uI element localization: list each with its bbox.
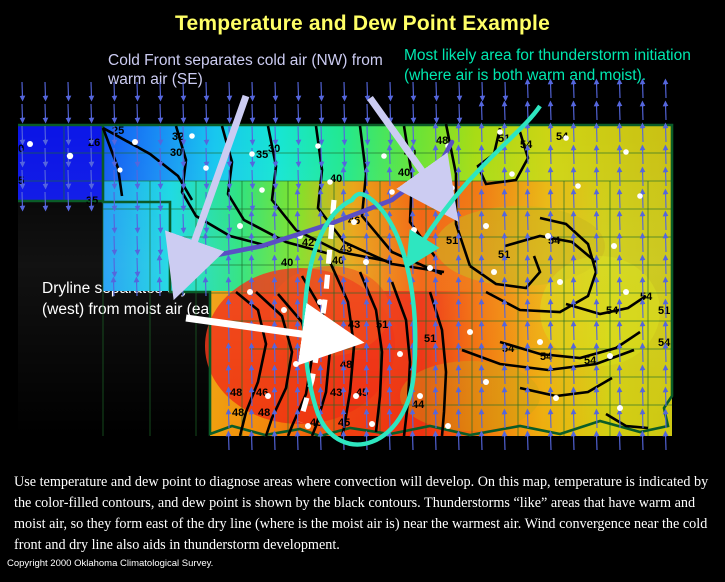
thunderstorm-callout-text: Most likely area for thunderstorm initia…: [404, 46, 704, 86]
svg-text:44: 44: [412, 399, 425, 411]
svg-text:40: 40: [281, 257, 293, 269]
svg-text:43: 43: [340, 243, 352, 255]
svg-text:30: 30: [170, 147, 182, 159]
page-title: Temperature and Dew Point Example: [0, 12, 725, 36]
svg-text:48: 48: [232, 407, 244, 419]
svg-text:51: 51: [424, 333, 436, 345]
svg-text:51: 51: [376, 319, 388, 331]
slide-canvas: Temperature and Dew Point Example Cold F…: [0, 0, 725, 582]
slide-body-text: Use temperature and dew point to diagnos…: [14, 472, 714, 556]
svg-text:54: 54: [658, 337, 671, 349]
oklahoma-temperature-map: 25 26 32 35 30 30 35 30 35 40 40 40 40 4…: [0, 96, 725, 456]
svg-text:30: 30: [268, 143, 280, 155]
copyright-notice: Copyright 2000 Oklahoma Climatological S…: [7, 558, 213, 569]
svg-text:43: 43: [330, 387, 342, 399]
cold-front-callout-text: Cold Front separates cold air (NW) from …: [108, 51, 408, 89]
svg-text:54: 54: [502, 343, 515, 355]
svg-text:54: 54: [606, 305, 619, 317]
svg-text:54: 54: [640, 291, 653, 303]
svg-text:35: 35: [256, 149, 268, 161]
svg-text:32: 32: [172, 131, 184, 143]
svg-text:40: 40: [398, 167, 410, 179]
svg-text:43: 43: [348, 319, 360, 331]
svg-text:42: 42: [302, 237, 314, 249]
svg-text:48: 48: [258, 407, 270, 419]
svg-text:51: 51: [446, 235, 458, 247]
svg-text:54: 54: [520, 139, 533, 151]
map-svg: 25 26 32 35 30 30 35 30 35 40 40 40 40 4…: [0, 96, 725, 456]
svg-text:40: 40: [332, 255, 344, 267]
svg-text:48: 48: [230, 387, 242, 399]
svg-text:35: 35: [86, 195, 98, 207]
svg-text:26: 26: [88, 137, 100, 149]
svg-text:54: 54: [584, 355, 597, 367]
svg-text:51: 51: [658, 305, 670, 317]
svg-text:48: 48: [340, 359, 352, 371]
